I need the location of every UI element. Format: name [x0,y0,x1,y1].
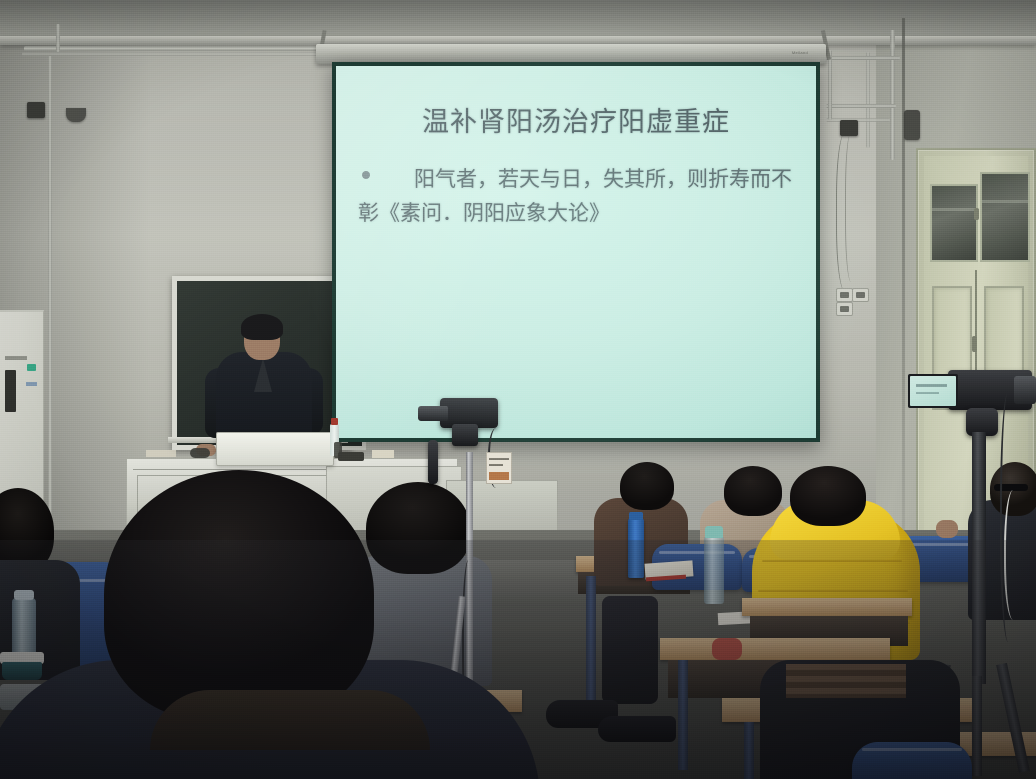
projector-screen-housing: Meiland [316,44,826,64]
monopod-handle[interactable] [428,440,438,484]
wall-socket-c[interactable] [836,302,853,316]
slide-surface: 温补肾阳汤治疗阳虚重症 阳气者，若天与日，失其所，则折寿而不彰《素问．阴阳应象大… [336,66,816,438]
attendee-red-shoe [712,638,742,660]
conduit-pipe-horizontal-left-2 [22,52,322,56]
conduit-horizontal-right-2 [826,104,896,108]
camcorder-tripod-cable [1000,392,1018,642]
left-water-bottle [12,598,36,658]
desk-paper-2 [146,450,176,457]
wall-corner-edge [902,18,905,538]
conduit-horizontal-right [826,56,900,60]
camcorder-tripod-lcd[interactable] [908,374,958,408]
camcorder-lcd-preview [910,376,956,406]
wall-wire-right-2 [845,132,860,282]
tripod-center-column[interactable] [972,432,986,684]
yellow-jacket-seam-1 [762,560,902,562]
desk-mouse[interactable] [190,448,210,458]
stacked-books-under-desk [786,664,906,698]
blue-thermos [628,518,644,578]
clear-water-bottle-cap [705,526,723,538]
equipment-tag-monopod [486,452,512,484]
desk-leg-c [744,722,754,779]
conduit-vertical-left [48,56,52,536]
podium-lectern [216,432,334,466]
projector-screen: 温补肾阳汤治疗阳虚重症 阳气者，若天与日，失其所，则折寿而不彰《素问．阴阳应象大… [332,62,820,442]
junction-box-left [27,102,45,118]
paper-cup [2,662,42,680]
desk-leg-b [678,660,688,770]
conduit-horizontal-right-3 [826,118,890,122]
wall-speaker-left [66,108,86,122]
conduit-vertical-right [890,30,895,160]
classroom-photo-scene: Meiland 温补肾阳汤治疗阳虚重症 阳气者，若天与日，失其所，则折寿而不彰《… [0,0,1036,779]
foreground-attendee-fur-collar [150,690,430,750]
desk-row-front-yellow [742,598,912,616]
wall-socket-a[interactable] [836,288,853,302]
tripod-leg-center [972,676,982,776]
presenter-hair [241,314,283,340]
cabinet-blue-tag [26,382,37,386]
conduit-drop-right [828,50,832,120]
blue-thermos-cap [629,512,643,520]
door-glass-pane-right [980,172,1030,262]
screen-brand-label: Meiland [792,50,808,55]
attendee-yellow-jacket-head [790,466,866,526]
conduit-vertical-right-2 [866,52,870,148]
clear-water-bottle [704,536,724,604]
yellow-jacket-seam-2 [758,590,908,592]
foreground-attendee-head [104,470,374,720]
desk-row-lower-center [660,638,890,660]
chair-bottom-right[interactable] [852,742,972,779]
attendee-legs-dark [602,596,658,704]
conduit-drop-left [56,24,60,52]
camcorder-monopod-lens [418,406,448,421]
cabinet-green-sticker [27,364,36,371]
wall-socket-b[interactable] [852,288,869,302]
door-glass-pane-left [930,184,978,262]
attendee-grey-hoodie-head [366,482,470,574]
desk-leg-a [586,576,596,708]
attendee-tan-coat-head [724,466,782,516]
attendee-shoe-right [598,716,676,742]
desk-paper [372,450,394,458]
left-water-bottle-cap [14,590,34,600]
cabinet-slot [5,370,16,412]
attendee-glasses-hand [936,520,958,538]
slide-title: 温补肾阳汤治疗阳虚重症 [336,100,816,139]
desk-marker[interactable] [334,442,342,458]
attendee-brown-jacket-head [620,462,674,510]
door-handle[interactable] [972,336,977,352]
camcorder-monopod-mount [452,424,478,446]
door-window-latch[interactable] [974,208,979,220]
conduit-pipe-horizontal-left [24,46,344,51]
wall-speaker-right [904,110,920,140]
slide-body-text: 阳气者，若天与日，失其所，则折寿而不彰《素问．阴阳应象大论》 [358,162,800,230]
camcorder-tripod-lens [1014,376,1036,404]
cabinet-label [5,356,27,360]
